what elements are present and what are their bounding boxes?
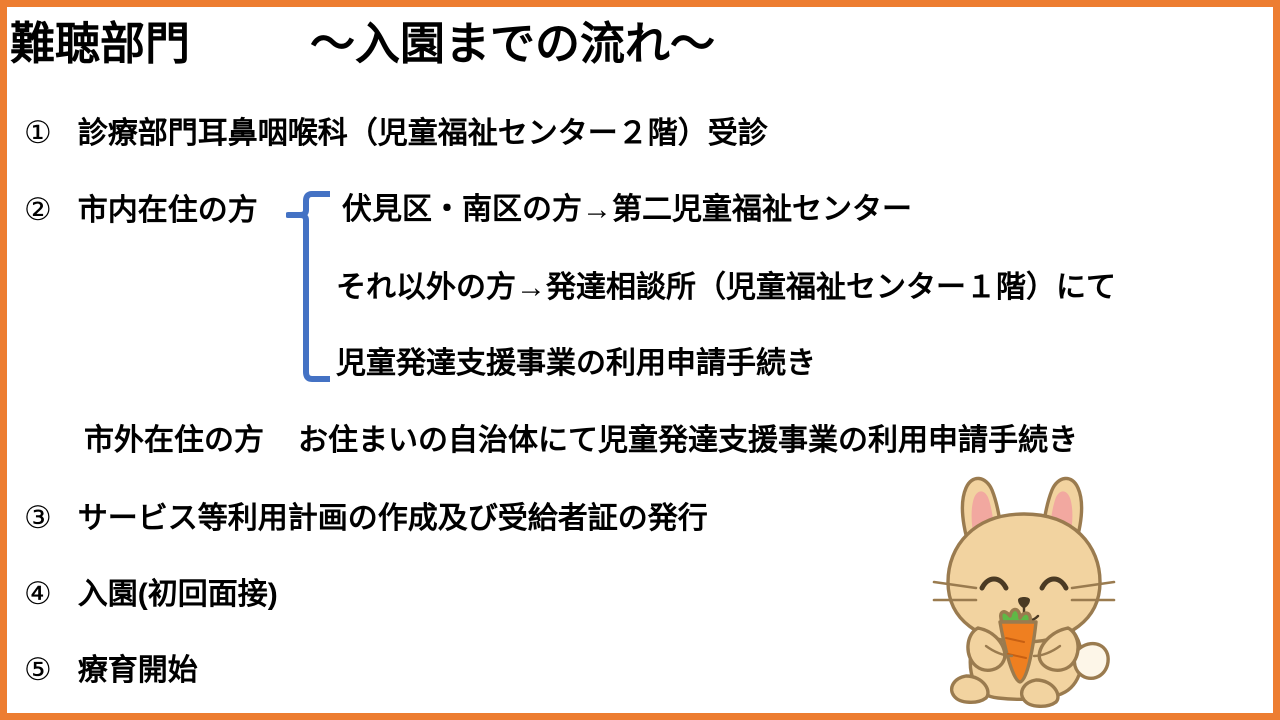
outside-city-text: お住まいの自治体にて児童発達支援事業の利用申請手続き xyxy=(298,421,1078,461)
branch-option-1-text: 伏見区・南区の方→第二児童福祉センター xyxy=(342,190,912,230)
step-marker-1: ① xyxy=(24,113,52,153)
step-item-1: ①診療部門耳鼻咽喉科（児童福祉センター２階）受診 xyxy=(24,113,768,154)
outside-city-label: 市外在住の方 xyxy=(84,421,264,461)
step-item-3: ③サービス等利用計画の作成及び受給者証の発行 xyxy=(24,498,708,539)
slide-title: 難聴部門～入園までの流れ～ xyxy=(10,16,1190,74)
branch-option-1: 伏見区・南区の方→第二児童福祉センター xyxy=(342,190,912,230)
rabbit-with-carrot-icon xyxy=(928,470,1118,710)
title-department: 難聴部門 xyxy=(10,16,190,72)
branch-brace xyxy=(286,190,332,386)
slide-canvas: 難聴部門～入園までの流れ～ ①診療部門耳鼻咽喉科（児童福祉センター２階）受診 ②… xyxy=(0,0,1280,720)
step-text-3: サービス等利用計画の作成及び受給者証の発行 xyxy=(78,499,708,539)
outside-city-row: 市外在住の方お住まいの自治体にて児童発達支援事業の利用申請手続き xyxy=(84,421,1078,461)
slide-border-bottom xyxy=(0,713,1280,720)
step-text-5: 療育開始 xyxy=(78,651,198,691)
step-marker-4: ④ xyxy=(24,574,52,614)
branch-option-3-text: 児童発達支援事業の利用申請手続き xyxy=(336,344,816,384)
title-subtitle: ～入園までの流れ～ xyxy=(310,16,715,72)
step-marker-3: ③ xyxy=(24,498,52,538)
slide-border-left xyxy=(0,0,7,720)
step-item-2: ②市内在住の方 xyxy=(24,190,258,231)
branch-option-3: 児童発達支援事業の利用申請手続き xyxy=(336,344,816,384)
slide-border-top xyxy=(0,0,1280,7)
step-marker-5: ⑤ xyxy=(24,650,52,690)
step-text-4: 入園(初回面接) xyxy=(78,575,278,615)
step-marker-2: ② xyxy=(24,190,52,230)
step-text-1: 診療部門耳鼻咽喉科（児童福祉センター２階）受診 xyxy=(78,114,768,154)
step-item-5: ⑤療育開始 xyxy=(24,650,198,691)
step-text-2: 市内在住の方 xyxy=(78,191,258,231)
slide-border-right xyxy=(1273,0,1280,720)
step-item-4: ④入園(初回面接) xyxy=(24,574,278,615)
branch-option-2-text: それ以外の方→発達相談所（児童福祉センター１階）にて xyxy=(336,268,1116,308)
branch-option-2: それ以外の方→発達相談所（児童福祉センター１階）にて xyxy=(336,268,1116,308)
